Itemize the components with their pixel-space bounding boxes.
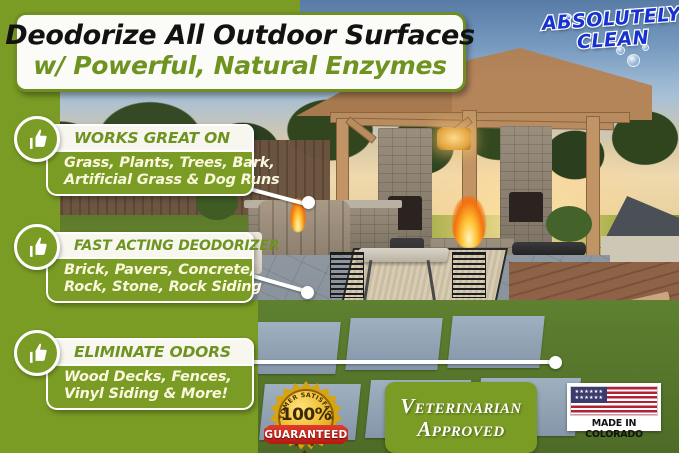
pavilion-post-right (586, 116, 600, 266)
brand-name-line-2: CLEAN (576, 29, 649, 53)
bubble-icon-4 (566, 14, 572, 20)
shrub-mid (546, 206, 592, 242)
thumbs-up-badge-3 (14, 330, 60, 376)
thumbs-up-icon (23, 339, 51, 367)
made-in-colorado-badge: ★★★★★★★★★★★★ MADE IN COLORADO (567, 383, 661, 431)
pointer-dot-2 (301, 286, 314, 299)
veterinarian-line-2: Approved (417, 418, 504, 440)
seal-percent: 100% (278, 405, 334, 425)
callout-3-body: Wood Decks, Fences, Vinyl Siding & More! (46, 366, 254, 410)
callout-2-body: Brick, Pavers, Concrete, Rock, Stone, Ro… (46, 259, 254, 303)
callout-2-body-line-2: Rock, Stone, Rock Siding (64, 279, 246, 296)
callout-3-body-line-1: Wood Decks, Fences, (64, 369, 246, 386)
veterinarian-line-1: Veterinarian (400, 395, 521, 417)
headline-line-2: w/ Powerful, Natural Enzymes (33, 52, 446, 80)
pointer-dot-1 (302, 196, 315, 209)
thumbs-up-badge-2 (14, 224, 60, 270)
satisfaction-guarantee-seal: CUSTOMER SATISFACTION 100% ★ ★ ★ GUARANT… (266, 381, 346, 453)
veterinarian-approved-badge: Veterinarian Approved (385, 382, 537, 453)
callout-1-heading-bar: WORKS GREAT ON (46, 124, 254, 152)
callout-3: ELIMINATE ODORS Wood Decks, Fences, Viny… (46, 338, 254, 410)
fireplace-opening-right (509, 192, 543, 222)
patio-chair-right (452, 252, 486, 298)
callout-3-heading-bar: ELIMINATE ODORS (46, 338, 254, 366)
pendant-light (437, 128, 471, 150)
callout-1-body: Grass, Plants, Trees, Bark, Artificial G… (46, 152, 254, 196)
callout-3-heading: ELIMINATE ODORS (74, 343, 231, 361)
callout-1: WORKS GREAT ON Grass, Plants, Trees, Bar… (46, 124, 254, 196)
callout-2-heading: FAST ACTING DEODORIZER (74, 238, 279, 254)
stepping-stone-1 (249, 322, 340, 374)
bubble-icon-1 (616, 46, 625, 55)
thumbs-up-icon (23, 125, 51, 153)
thumbs-up-icon (23, 233, 51, 261)
seal-guaranteed-banner: GUARANTEED (264, 425, 348, 444)
bubble-icon-3 (642, 44, 649, 51)
callout-1-heading: WORKS GREAT ON (74, 129, 230, 147)
flag-canton: ★★★★★★★★★★★★ (571, 387, 607, 403)
pointer-dot-3 (549, 356, 562, 369)
stone-chimney-right (500, 126, 552, 256)
headline-line-1: Deodorize All Outdoor Surfaces (5, 22, 475, 50)
grill-hood (512, 242, 586, 256)
patio-chair-left (330, 252, 364, 298)
pointer-line-3 (246, 360, 556, 364)
column-flame (452, 196, 486, 248)
headline-box: Deodorize All Outdoor Surfaces w/ Powerf… (14, 12, 466, 92)
callout-2: FAST ACTING DEODORIZER Brick, Pavers, Co… (46, 232, 254, 303)
thumbs-up-badge-1 (14, 116, 60, 162)
callout-1-body-line-2: Artificial Grass & Dog Runs (64, 172, 246, 189)
product-advertisement: Deodorize All Outdoor Surfaces w/ Powerf… (0, 0, 679, 453)
bubble-icon-2 (627, 54, 640, 67)
callout-3-body-line-2: Vinyl Siding & More! (64, 386, 246, 403)
seal-guaranteed-label: GUARANTEED (264, 429, 347, 441)
callout-2-body-line-1: Brick, Pavers, Concrete, (64, 262, 246, 279)
callout-2-heading-bar: FAST ACTING DEODORIZER (46, 232, 254, 259)
made-in-colorado-label: MADE IN COLORADO (570, 418, 658, 440)
callout-1-body-line-1: Grass, Plants, Trees, Bark, (64, 155, 246, 172)
usa-flag-icon: ★★★★★★★★★★★★ (570, 386, 658, 416)
